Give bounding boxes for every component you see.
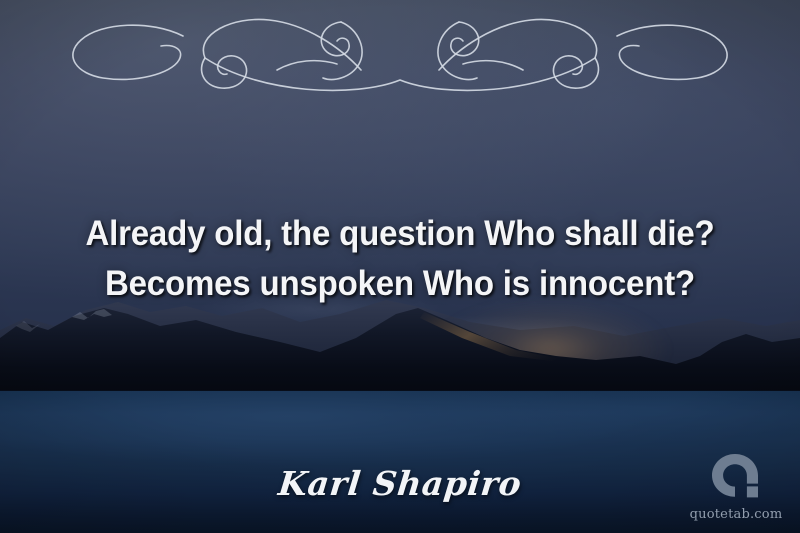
quote-line-2: Becomes unspoken Who is innocent? — [28, 258, 772, 308]
water-sheen — [0, 391, 800, 533]
author-name: Karl Shapiro — [0, 464, 800, 503]
quotetab-logo-icon — [708, 451, 764, 505]
quotetab-watermark[interactable]: quotetab.com — [684, 451, 788, 527]
quote-line-1: Already old, the question Who shall die? — [28, 208, 772, 258]
quote-image-card: Already old, the question Who shall die?… — [0, 0, 800, 533]
lake-water — [0, 391, 800, 533]
flourish-ornament-icon — [55, 8, 745, 98]
quotetab-site-label: quotetab.com — [684, 507, 788, 522]
mountain-ridge-near — [0, 298, 800, 394]
quote-text-block: Already old, the question Who shall die?… — [0, 208, 800, 308]
